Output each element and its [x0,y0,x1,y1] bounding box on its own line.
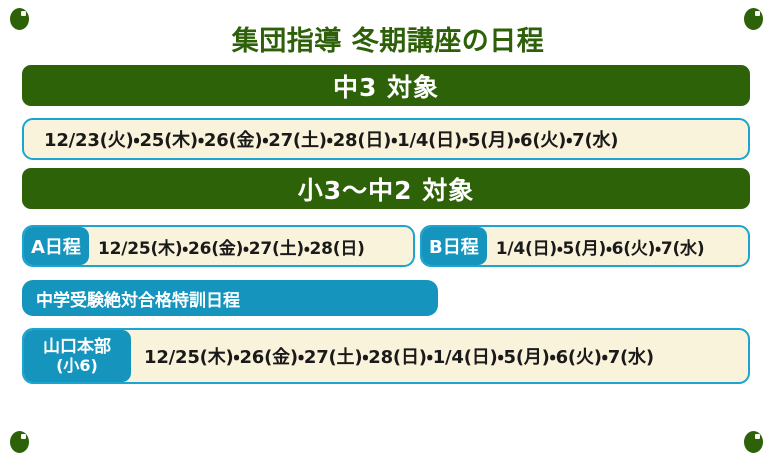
section-header-junior3: 中3 対象 [22,65,750,106]
green-dot-decoration-bottom-left [10,431,29,453]
green-dot-decoration-top-left [10,8,29,30]
page-title: 集団指導 冬期講座の日程 [0,19,776,58]
badge-yamaguchi-line1: 山口本部 [43,337,111,357]
date-row-schedule-b-dates: 1/4(日)・5(月)・6(火)・7(水) [487,234,705,259]
section-header-elementary3-to-junior2: 小3〜中2 対象 [22,168,750,209]
special-course-bar: 中学受験絶対合格特訓日程 [22,280,438,316]
green-dot-decoration-top-right [744,8,763,30]
date-row-junior3: 12/23(火)・25(木)・26(金)・27(土)・28(日)・1/4(日)・… [22,118,750,160]
badge-schedule-a: A日程 [23,227,89,265]
schedule-page: 集団指導 冬期講座の日程 中3 対象 12/23(火)・25(木)・26(金)・… [0,0,776,476]
date-row-junior3-dates: 12/23(火)・25(木)・26(金)・27(土)・28(日)・1/4(日)・… [24,126,618,152]
badge-yamaguchi-line2: (小6) [56,357,98,376]
date-row-schedule-a-dates: 12/25(木)・26(金)・27(土)・28(日) [89,234,365,259]
badge-schedule-b: B日程 [421,227,487,265]
green-dot-decoration-bottom-right [744,431,763,453]
badge-yamaguchi-headquarters: 山口本部 (小6) [23,330,131,382]
date-row-schedule-a: A日程 12/25(木)・26(金)・27(土)・28(日) [22,225,415,267]
date-row-yamaguchi-dates: 12/25(木)・26(金)・27(土)・28(日)・1/4(日)・5(月)・6… [131,343,654,369]
date-row-yamaguchi: 山口本部 (小6) 12/25(木)・26(金)・27(土)・28(日)・1/4… [22,328,750,384]
date-row-schedule-b: B日程 1/4(日)・5(月)・6(火)・7(水) [420,225,750,267]
